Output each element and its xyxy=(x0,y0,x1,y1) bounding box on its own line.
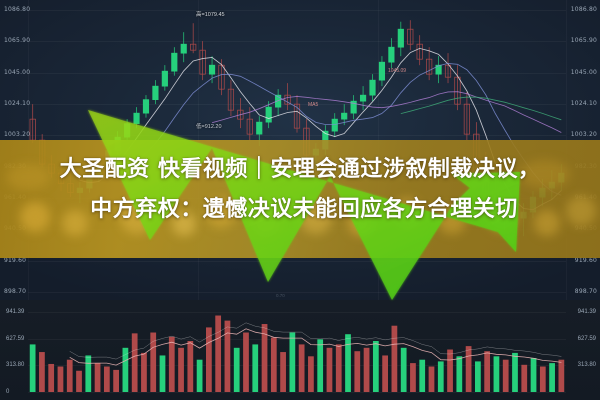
volume-bar xyxy=(382,355,388,392)
volume-bar xyxy=(410,363,416,392)
volume-bar xyxy=(76,371,82,392)
volume-axis-label-right: 941.39 xyxy=(578,309,596,315)
volume-bar xyxy=(549,363,555,392)
candle-body xyxy=(209,65,214,74)
volume-bar xyxy=(531,358,537,392)
volume-bar-series xyxy=(0,300,600,400)
volume-bar xyxy=(336,344,342,392)
volume-bar xyxy=(225,321,231,392)
price-axis-label-left: 1024.10 xyxy=(4,101,30,107)
headline-line-1: 大圣配资 快看视频｜安理会通过涉叙制裁决议， xyxy=(0,150,600,190)
price-axis-label-left: 919.60 xyxy=(4,258,26,264)
price-axis-label-right: 1086.80 xyxy=(571,7,597,13)
volume-bar xyxy=(512,353,518,392)
volume-bar xyxy=(169,337,175,392)
candle-body xyxy=(257,122,262,134)
volume-axis-label-left: 313.80 xyxy=(6,362,24,368)
candle-body xyxy=(332,119,337,131)
volume-bar xyxy=(484,351,490,392)
candle-body xyxy=(341,113,346,119)
volume-bar xyxy=(30,344,36,392)
volume-bar xyxy=(540,367,546,392)
volume-bar xyxy=(206,327,212,392)
volume-bar xyxy=(401,348,407,392)
volume-bar xyxy=(364,348,370,392)
price-axis-label-left: 1045.00 xyxy=(4,70,30,76)
volume-bar xyxy=(521,365,527,392)
price-axis-label-left: 1003.20 xyxy=(4,132,30,138)
volume-bar xyxy=(160,355,166,392)
volume-bar xyxy=(475,361,481,392)
volume-bar xyxy=(373,341,379,392)
price-axis-label-right: 1003.20 xyxy=(571,132,597,138)
volume-bar xyxy=(392,326,398,392)
price-axis-label-right: 1045.00 xyxy=(571,70,597,76)
price-axis-label-right: 1024.10 xyxy=(571,101,597,107)
candle-body xyxy=(398,29,403,47)
volume-bar xyxy=(95,363,101,392)
price-axis-label-right: 919.60 xyxy=(575,258,597,264)
volume-bar xyxy=(289,333,295,392)
candle-body xyxy=(389,47,394,62)
volume-bar xyxy=(215,316,221,392)
volume-axis-label-right: 313.80 xyxy=(578,362,596,368)
volume-bar xyxy=(447,350,453,392)
volume-bar xyxy=(419,360,425,392)
volume-bar xyxy=(39,352,45,392)
candle-body xyxy=(124,124,129,137)
volume-axis-label-right: 627.59 xyxy=(578,336,596,342)
mini-axis-label: 0.70 xyxy=(276,294,285,299)
volume-bar xyxy=(48,364,54,392)
volume-bar xyxy=(67,360,73,392)
high-price-annotation: 高=1079.45 xyxy=(196,10,225,18)
headline-text: 大圣配资 快看视频｜安理会通过涉叙制裁决议， 中方弃权：遗憾决议未能回应各方合理… xyxy=(0,150,600,230)
volume-bar xyxy=(58,367,64,392)
candle-body xyxy=(370,80,375,95)
volume-bar xyxy=(438,361,444,392)
volume-chart-panel: 941.39627.59313.800 941.39627.59313.80 xyxy=(0,300,600,400)
volume-bar xyxy=(187,341,193,392)
price-axis-label-right: 1065.90 xyxy=(571,38,597,44)
ma-value-annotation: 1045.09 xyxy=(388,68,406,74)
stock-chart-screenshot: 高=1079.45 低=912.20 1045.09 MA5 1086.8010… xyxy=(0,0,600,400)
volume-axis-label-left: 0 xyxy=(6,389,9,395)
volume-bar xyxy=(327,348,333,392)
volume-bar xyxy=(466,346,472,392)
volume-bar xyxy=(456,356,462,392)
volume-bar xyxy=(252,344,258,392)
candle-body xyxy=(181,44,186,53)
ma-label-annotation: MA5 xyxy=(308,102,318,108)
volume-bar xyxy=(317,339,323,392)
volume-bar xyxy=(85,355,91,392)
volume-bar xyxy=(104,367,110,392)
volume-bar xyxy=(132,333,138,392)
volume-bar xyxy=(271,338,277,392)
candle-body xyxy=(379,62,384,80)
candle-body xyxy=(172,53,177,71)
volume-axis-label-left: 941.39 xyxy=(6,309,24,315)
volume-bar xyxy=(234,348,240,392)
volume-axis-label-left: 627.59 xyxy=(6,336,24,342)
low-price-annotation: 低=912.20 xyxy=(196,122,222,130)
volume-bar xyxy=(197,360,203,392)
volume-bar xyxy=(280,352,286,392)
candle-body xyxy=(266,107,271,122)
candle-body xyxy=(153,86,158,99)
candle-body xyxy=(143,100,148,113)
volume-bar xyxy=(429,367,435,392)
volume-bar xyxy=(558,360,564,392)
volume-bar xyxy=(113,370,119,392)
volume-bar xyxy=(354,351,360,392)
price-axis-label-left: 1065.90 xyxy=(4,38,30,44)
volume-bar xyxy=(308,356,314,392)
ma-line-ma20 xyxy=(212,92,561,133)
volume-bar xyxy=(503,360,509,392)
candle-body xyxy=(360,95,365,101)
volume-bar xyxy=(345,334,351,392)
ma-line-ma60 xyxy=(401,97,562,120)
volume-bar xyxy=(299,344,305,392)
volume-bar xyxy=(141,353,147,392)
volume-bar xyxy=(178,348,184,392)
candle-body xyxy=(162,71,167,86)
candle-body xyxy=(134,113,139,123)
volume-bar xyxy=(243,333,249,392)
volume-bar xyxy=(494,356,500,392)
headline-line-2: 中方弃权：遗憾决议未能回应各方合理关切 xyxy=(0,190,600,230)
price-axis-label-left: 1086.80 xyxy=(4,7,30,13)
